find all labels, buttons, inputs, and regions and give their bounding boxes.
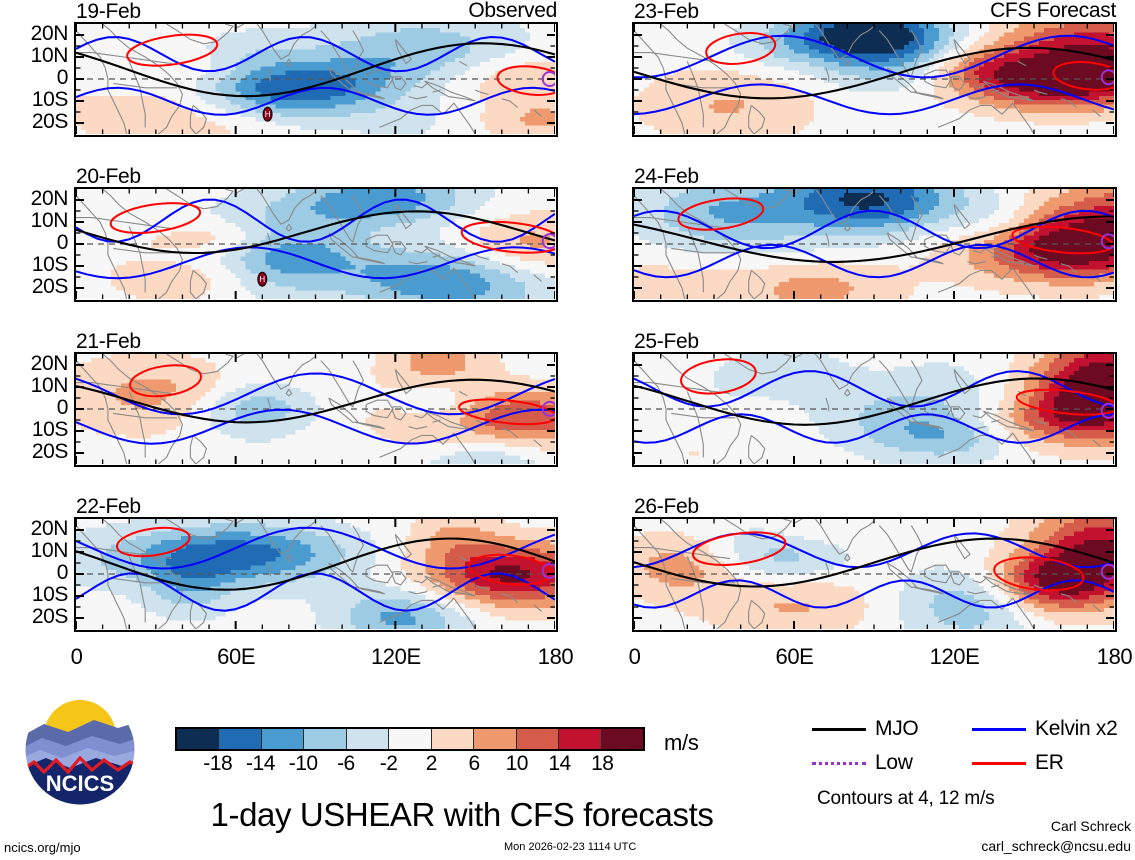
y-axis-label-10N: 10N	[2, 374, 68, 398]
legend-label: ER	[1035, 751, 1064, 775]
colorbar-swatch-10	[602, 729, 643, 749]
map-frame	[632, 187, 1117, 302]
y-axis-label-20N: 20N	[2, 517, 68, 541]
contour-legend: MJOKelvin x2LowER	[812, 712, 1132, 780]
y-axis-label-20N: 20N	[2, 22, 68, 46]
colorbar-swatch-9	[559, 729, 601, 749]
y-axis-label-10S: 10S	[2, 583, 68, 607]
cyclone-marker: H	[263, 107, 272, 121]
map-frame: H	[74, 187, 558, 302]
x-axis-label-0: 0	[590, 644, 680, 670]
author-email[interactable]: carl_schreck@ncsu.edu	[981, 838, 1131, 854]
map-panel-20-feb: 20-FebH	[74, 187, 558, 302]
cyclone-marker: H	[258, 272, 267, 286]
page-title: 1-day USHEAR with CFS forecasts	[152, 796, 772, 834]
x-axis-label-60E: 60E	[750, 644, 840, 670]
colorbar-swatch-8	[517, 729, 559, 749]
x-axis-label-180: 180	[511, 644, 601, 670]
x-axis-label-180: 180	[1070, 644, 1135, 670]
colorbar-swatch-4	[347, 729, 389, 749]
map-panel-24-feb: 24-Feb	[632, 187, 1117, 302]
ncics-logo: NCICS	[22, 692, 138, 808]
map-frame	[632, 517, 1117, 632]
map-panel-22-feb: 22-Feb	[74, 517, 558, 632]
y-axis-label-10S: 10S	[2, 253, 68, 277]
legend-item-kelvin-x2: Kelvin x2	[972, 717, 1132, 741]
colorbar-swatch-3	[304, 729, 346, 749]
map-frame: H	[74, 22, 558, 137]
y-axis-label-20S: 20S	[2, 110, 68, 134]
colorbar-tick-2: 2	[426, 752, 437, 776]
y-axis-label-20S: 20S	[2, 605, 68, 629]
map-frame	[632, 352, 1117, 467]
y-axis-label-20N: 20N	[2, 187, 68, 211]
map-field	[634, 354, 1114, 464]
map-field	[634, 519, 1114, 629]
colorbar-swatch-6	[432, 729, 474, 749]
column-header-cfs-forecast: CFS Forecast	[990, 0, 1116, 23]
y-axis-label-0: 0	[2, 396, 68, 420]
legend-label: Low	[875, 751, 913, 775]
map-field	[634, 189, 1114, 299]
panel-date-label: 22-Feb	[76, 495, 141, 519]
colorbar-swatch-7	[474, 729, 516, 749]
colorbar-swatch-2	[262, 729, 304, 749]
legend-item-low: Low	[812, 751, 972, 775]
y-axis-label-0: 0	[2, 66, 68, 90]
map-panel-21-feb: 21-Feb	[74, 352, 558, 467]
map-field	[76, 354, 555, 464]
colorbar-swatch-5	[389, 729, 431, 749]
logo-text: NCICS	[46, 771, 114, 796]
colorbar-tick--10: -10	[289, 752, 318, 776]
y-axis-label-20S: 20S	[2, 275, 68, 299]
x-axis-label-0: 0	[32, 644, 122, 670]
svg-text:H: H	[265, 110, 271, 119]
colorbar-swatch-0	[177, 729, 219, 749]
legend-swatch-line	[972, 728, 1026, 731]
panel-date-label: 24-Feb	[634, 165, 699, 189]
colorbar-tick-labels: -18-14-10-6-226101418	[175, 752, 645, 778]
panel-date-label: 23-Feb	[634, 0, 699, 24]
y-axis-label-10S: 10S	[2, 88, 68, 112]
y-axis-label-10N: 10N	[2, 44, 68, 68]
map-panel-26-feb: 26-Feb	[632, 517, 1117, 632]
panel-date-label: 25-Feb	[634, 330, 699, 354]
legend-swatch-line	[812, 728, 866, 731]
colorbar-swatches	[175, 727, 645, 751]
map-field: H	[76, 24, 555, 134]
colorbar-tick--18: -18	[203, 752, 232, 776]
colorbar-swatch-1	[219, 729, 261, 749]
colorbar-tick-18: 18	[591, 752, 613, 776]
x-axis-label-120E: 120E	[351, 644, 441, 670]
author-name: Carl Schreck	[1051, 818, 1131, 834]
map-panel-25-feb: 25-Feb	[632, 352, 1117, 467]
map-panel-19-feb: 19-FebObservedH	[74, 22, 558, 137]
colorbar-tick--6: -6	[337, 752, 355, 776]
colorbar-tick--2: -2	[380, 752, 398, 776]
x-axis-label-60E: 60E	[191, 644, 281, 670]
timestamp: Mon 2026-02-23 1114 UTC	[504, 841, 636, 853]
map-frame	[74, 517, 558, 632]
map-frame	[74, 352, 558, 467]
y-axis-label-20N: 20N	[2, 352, 68, 376]
x-axis-label-120E: 120E	[910, 644, 1000, 670]
legend-swatch-line	[972, 762, 1026, 765]
panel-date-label: 21-Feb	[76, 330, 141, 354]
panel-date-label: 26-Feb	[634, 495, 699, 519]
column-header-observed: Observed	[468, 0, 557, 23]
y-axis-label-10N: 10N	[2, 209, 68, 233]
map-frame	[632, 22, 1117, 137]
panel-date-label: 20-Feb	[76, 165, 141, 189]
colorbar: -18-14-10-6-226101418	[175, 727, 645, 778]
colorbar-tick-6: 6	[468, 752, 479, 776]
legend-item-er: ER	[972, 751, 1132, 775]
contour-note: Contours at 4, 12 m/s	[817, 788, 994, 810]
colorbar-tick-10: 10	[506, 752, 528, 776]
map-field	[634, 24, 1114, 134]
site-link[interactable]: ncics.org/mjo	[4, 840, 81, 855]
map-field	[76, 519, 555, 629]
map-panel-23-feb: 23-FebCFS Forecast	[632, 22, 1117, 137]
y-axis-label-10N: 10N	[2, 539, 68, 563]
legend-swatch-line	[812, 762, 866, 765]
panel-date-label: 19-Feb	[76, 0, 141, 24]
y-axis-label-0: 0	[2, 561, 68, 585]
colorbar-tick-14: 14	[548, 752, 570, 776]
colorbar-units: m/s	[664, 730, 699, 756]
legend-item-mjo: MJO	[812, 717, 972, 741]
colorbar-tick--14: -14	[246, 752, 275, 776]
legend-label: Kelvin x2	[1035, 717, 1118, 741]
y-axis-label-0: 0	[2, 231, 68, 255]
y-axis-label-10S: 10S	[2, 418, 68, 442]
map-field: H	[76, 189, 555, 299]
legend-label: MJO	[875, 717, 918, 741]
y-axis-label-20S: 20S	[2, 440, 68, 464]
